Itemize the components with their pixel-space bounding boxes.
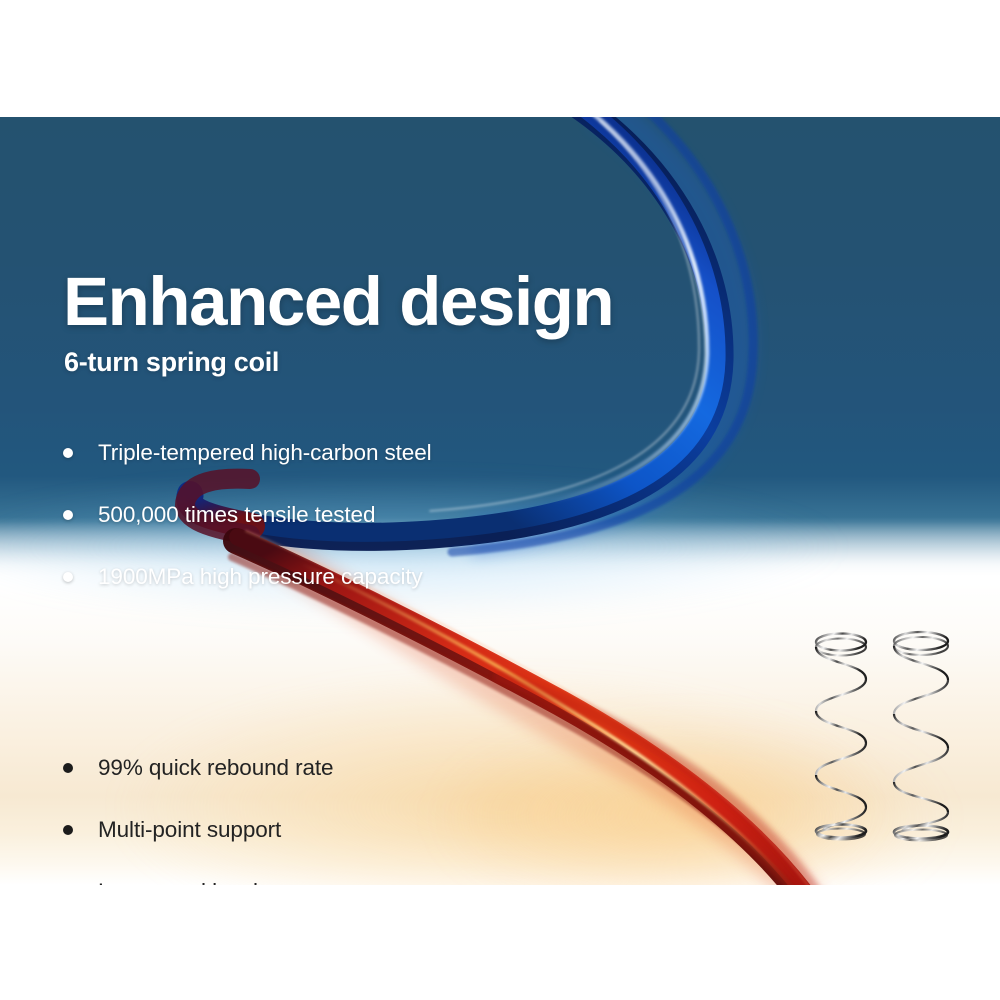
bullet-dot-icon	[63, 572, 73, 582]
product-feature-image: Enhanced design 6-turn spring coil Tripl…	[0, 0, 1000, 1000]
coil-spring-photo	[808, 622, 968, 847]
list-item: 1900MPa high pressure capacity	[63, 546, 432, 608]
page-subtitle: 6-turn spring coil	[64, 349, 279, 376]
list-item: Low sound level	[63, 861, 333, 885]
feature-label: Low sound level	[98, 879, 258, 885]
feature-list-bottom: 99% quick rebound rate Multi-point suppo…	[63, 737, 333, 885]
page-title: Enhanced design	[63, 267, 613, 336]
bullet-dot-icon	[63, 763, 73, 773]
spring-right	[894, 632, 948, 841]
content-panel: Enhanced design 6-turn spring coil Tripl…	[0, 117, 1000, 885]
feature-label: Multi-point support	[98, 817, 281, 843]
bullet-dot-icon	[63, 448, 73, 458]
list-item: 500,000 times tensile tested	[63, 484, 432, 546]
list-item: Triple-tempered high-carbon steel	[63, 422, 432, 484]
list-item: Multi-point support	[63, 799, 333, 861]
feature-label: 99% quick rebound rate	[98, 755, 333, 781]
bullet-dot-icon	[63, 825, 73, 835]
list-item: 99% quick rebound rate	[63, 737, 333, 799]
feature-label: 500,000 times tensile tested	[98, 502, 375, 528]
feature-label: Triple-tempered high-carbon steel	[98, 440, 432, 466]
bullet-dot-icon	[63, 510, 73, 520]
spring-left	[816, 634, 866, 840]
feature-list-top: Triple-tempered high-carbon steel 500,00…	[63, 422, 432, 608]
feature-label: 1900MPa high pressure capacity	[98, 564, 423, 590]
